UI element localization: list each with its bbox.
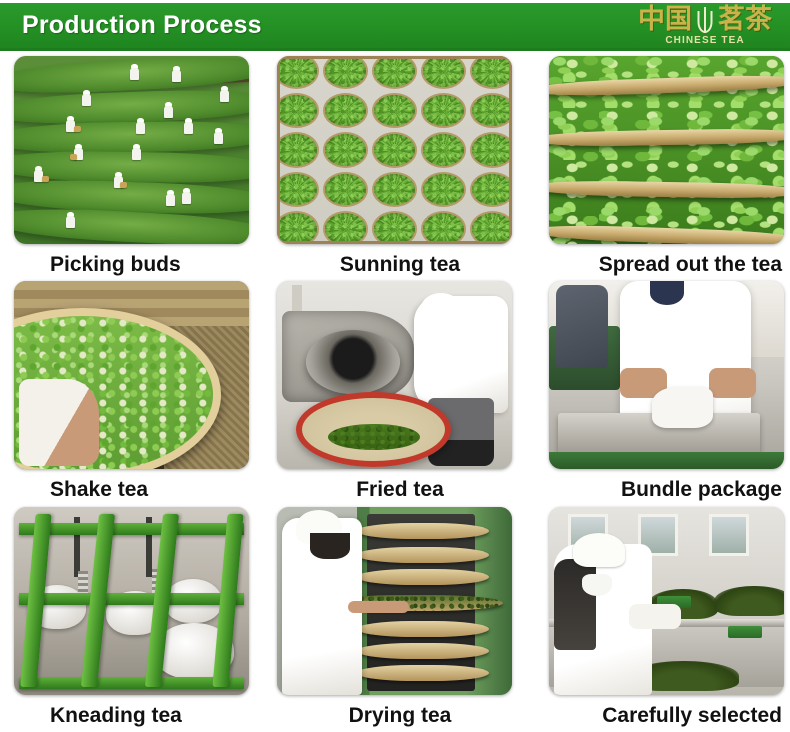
process-step-card: Shake tea (0, 281, 263, 506)
brand-logo: 中国 茗茶 CHINESE TEA (638, 5, 772, 46)
photo-worker-frying-machine (277, 281, 512, 469)
photo-worker-sorting-conveyor (549, 507, 784, 695)
step-caption: Bundle package (621, 478, 782, 502)
process-steps-grid: Picking buds Sunning tea (0, 56, 790, 732)
page-header: Production Process 中国 茗茶 CHINESE TEA (0, 3, 790, 48)
logo-chinese-right: 茗茶 (718, 6, 772, 33)
step-caption: Fried tea (356, 478, 444, 502)
logo-english-label: CHINESE TEA (665, 35, 744, 46)
header-divider (0, 48, 790, 51)
photo-worker-loading-drying-oven (277, 507, 512, 695)
photo-tea-plantation-pickers (14, 56, 249, 244)
step-caption: Spread out the tea (599, 253, 782, 277)
process-step-card: Spread out the tea (527, 56, 790, 281)
photo-hand-shaking-bamboo-tray (14, 281, 249, 469)
logo-characters-row: 中国 茗茶 (638, 5, 772, 33)
photo-green-kneading-machines (14, 507, 249, 695)
production-process-page: Production Process 中国 茗茶 CHINESE TEA (0, 0, 790, 732)
step-caption: Sunning tea (340, 253, 460, 277)
process-step-card: Fried tea (263, 281, 526, 506)
process-step-card: Carefully selected (527, 507, 790, 732)
logo-chinese-left: 中国 (638, 6, 692, 33)
page-title: Production Process (22, 11, 262, 40)
step-caption: Picking buds (50, 253, 181, 277)
step-caption: Drying tea (349, 704, 452, 728)
step-caption: Carefully selected (602, 704, 782, 728)
process-step-card: Bundle package (527, 281, 790, 506)
tea-sprout-icon (695, 5, 715, 33)
process-step-card: Sunning tea (263, 56, 526, 281)
step-caption: Kneading tea (50, 704, 182, 728)
process-step-card: Kneading tea (0, 507, 263, 732)
process-step-card: Picking buds (0, 56, 263, 281)
photo-round-trays-withering (277, 56, 512, 244)
step-caption: Shake tea (50, 478, 148, 502)
photo-stacked-bamboo-racks (549, 56, 784, 244)
photo-worker-bundling-cloth (549, 281, 784, 469)
process-step-card: Drying tea (263, 507, 526, 732)
